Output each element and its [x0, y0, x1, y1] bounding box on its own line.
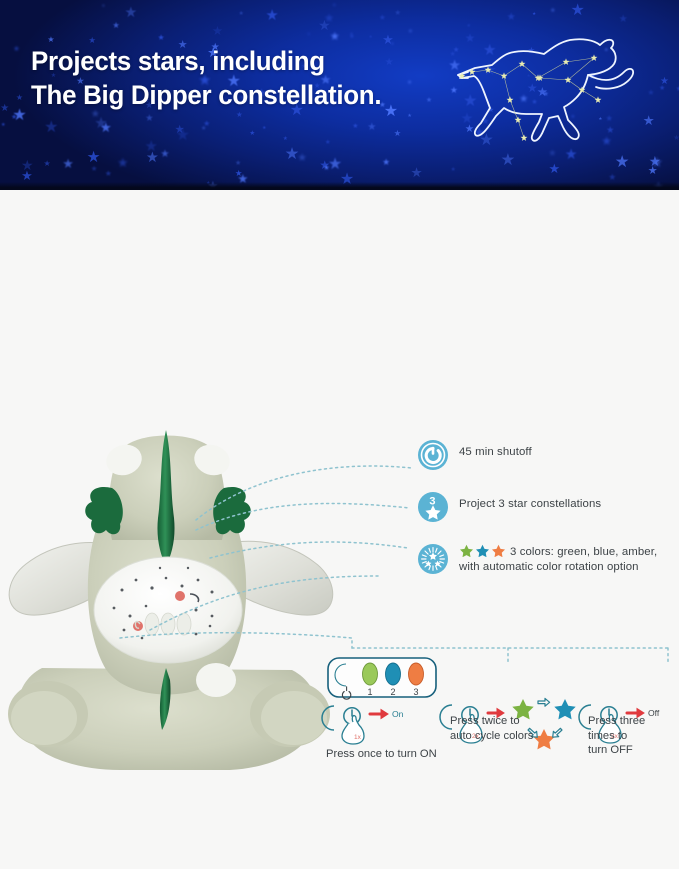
star-speck: ★	[212, 25, 223, 37]
feature-text-constellations: Project 3 star constellations	[459, 492, 601, 512]
star-speck: ★	[651, 156, 664, 170]
color-stars-icon	[459, 544, 507, 557]
caption-press-three-line2: times to	[588, 730, 627, 742]
star-speck: ★	[0, 104, 9, 114]
star-speck: ★	[91, 165, 98, 172]
star-speck: ★	[367, 122, 377, 133]
caption-press-three-line3: turn OFF	[588, 744, 633, 756]
star-speck: ★	[608, 173, 616, 182]
star-speck: ★	[62, 158, 74, 171]
on-label: On	[392, 709, 404, 719]
star-speck: ★	[394, 9, 401, 16]
instruction-diagrams: 1 2 3 1x	[312, 646, 679, 771]
star-speck: ★	[369, 35, 373, 39]
star-speck: ★	[407, 115, 411, 120]
feature-colors-line2: with automatic color rotation option	[459, 561, 639, 573]
star-speck: ★	[673, 134, 679, 141]
constellation-star	[515, 116, 522, 123]
feature-row-shutoff: 45 min shutoff	[418, 440, 674, 470]
star-speck: ★	[407, 80, 412, 86]
feature-colors-line1: 3 colors: green, blue, amber,	[510, 546, 657, 558]
color-button-2	[386, 663, 401, 685]
constellation-star	[595, 96, 602, 103]
star-speck: ★	[124, 6, 137, 21]
star-speck: ★	[550, 9, 555, 15]
star-speck: ★	[117, 156, 129, 169]
ursa-major-constellation-icon	[448, 28, 648, 173]
star-speck: ★	[145, 114, 154, 124]
feature-row-colors: 3 colors: green, blue, amber, with autom…	[418, 544, 674, 575]
product-photo-plush-dragon	[0, 418, 340, 790]
star-speck: ★	[47, 36, 54, 44]
star-speck: ★	[407, 29, 413, 35]
star-speck: ★	[236, 111, 243, 119]
star-speck: ★	[44, 120, 58, 136]
star-speck: ★	[283, 137, 288, 143]
color-button-3	[409, 663, 424, 685]
color-button-1	[363, 663, 378, 685]
star-speck: ★	[112, 21, 119, 29]
star-speck: ★	[146, 151, 159, 166]
star-speck: ★	[352, 122, 358, 129]
feature-text-colors: 3 colors: green, blue, amber, with autom…	[459, 544, 657, 575]
star-speck: ★	[619, 14, 629, 25]
star-speck: ★	[324, 12, 335, 24]
constellation-star	[501, 72, 508, 79]
star-speck: ★	[21, 169, 33, 182]
constellation-star	[563, 58, 570, 65]
button-label-3: 3	[413, 687, 418, 697]
star-speck: ★	[647, 89, 654, 97]
feature-list: 45 min shutoff 3 Project 3 star constell…	[418, 440, 674, 597]
banner-headline: Projects stars, including The Big Dipper…	[31, 44, 381, 112]
star-speck: ★	[506, 12, 515, 23]
constellation-star	[485, 66, 492, 73]
star-speck: ★	[660, 77, 669, 87]
star-speck: ★	[174, 125, 184, 136]
star-speck: ★	[323, 164, 330, 172]
caption-press-three: Press three times to turn OFF	[588, 714, 678, 758]
star-speck: ★	[235, 160, 241, 167]
headline-line-1: Projects stars, including	[31, 46, 325, 76]
star-speck: ★	[285, 146, 300, 163]
star-speck: ★	[265, 8, 278, 23]
star-speck: ★	[382, 33, 394, 46]
caption-press-twice-line1: Press twice to	[450, 715, 520, 727]
star-speck: ★	[385, 58, 394, 68]
feature-row-constellations: 3 Project 3 star constellations	[418, 492, 674, 522]
header-banner: ★★★★★★★★★★★★★★★★★★★★★★★★★★★★★★★★★★★★★★★★…	[0, 0, 679, 190]
star-speck: ★	[1, 124, 5, 129]
star-speck: ★	[239, 12, 244, 18]
caption-press-three-line1: Press three	[588, 715, 645, 727]
content-area: 45 min shutoff 3 Project 3 star constell…	[0, 190, 679, 679]
banner-bottom-edge	[0, 182, 679, 190]
star-speck: ★	[101, 4, 105, 9]
star-speck: ★	[394, 129, 402, 138]
star-speck: ★	[158, 34, 165, 42]
caption-press-twice: Press twice to auto cycle colors	[450, 714, 560, 743]
button-label-2: 2	[390, 687, 395, 697]
caption-press-twice-line2: auto cycle colors	[450, 730, 533, 742]
press-count-1x: 1x	[354, 734, 362, 741]
star-speck: ★	[43, 160, 50, 168]
star-speck: ★	[331, 3, 337, 10]
constellation-star	[521, 134, 528, 141]
star-speck: ★	[94, 116, 108, 132]
star-speck: ★	[426, 97, 432, 104]
press-once-diagram: 1x On	[322, 706, 404, 744]
star-speck: ★	[411, 166, 423, 179]
button-label-1: 1	[367, 687, 372, 697]
moon-icon-1x	[322, 706, 334, 730]
star-speck: ★	[570, 2, 584, 18]
star-speck: ★	[203, 120, 210, 128]
star-speck: ★	[325, 140, 331, 147]
star-speck: ★	[249, 131, 255, 138]
caption-press-once: Press once to turn ON	[326, 747, 476, 762]
product-feature-infographic: ★★★★★★★★★★★★★★★★★★★★★★★★★★★★★★★★★★★★★★★★…	[0, 0, 679, 679]
star-speck: ★	[13, 45, 20, 53]
star-speck: ★	[160, 149, 170, 160]
three-badge-label: 3	[429, 496, 435, 508]
star-speck: ★	[379, 14, 386, 22]
star-speck: ★	[105, 170, 112, 178]
power-timer-icon	[418, 440, 448, 470]
star-speck: ★	[16, 94, 23, 102]
star-speck: ★	[262, 126, 266, 131]
three-star-icon: 3	[418, 492, 448, 522]
star-speck: ★	[384, 104, 398, 120]
star-speck: ★	[306, 32, 312, 39]
star-speck: ★	[382, 158, 390, 167]
feature-text-shutoff: 45 min shutoff	[459, 440, 532, 460]
constellation-star	[507, 96, 514, 103]
star-speck: ★	[349, 35, 354, 41]
star-speck: ★	[330, 31, 340, 43]
starburst-icon	[418, 544, 448, 574]
star-speck: ★	[12, 108, 26, 124]
star-speck: ★	[532, 12, 536, 17]
headline-line-2: The Big Dipper constellation.	[31, 80, 381, 110]
caption-press-once-line1: Press once to turn ON	[326, 748, 437, 760]
arrow-icon-1	[370, 710, 388, 719]
